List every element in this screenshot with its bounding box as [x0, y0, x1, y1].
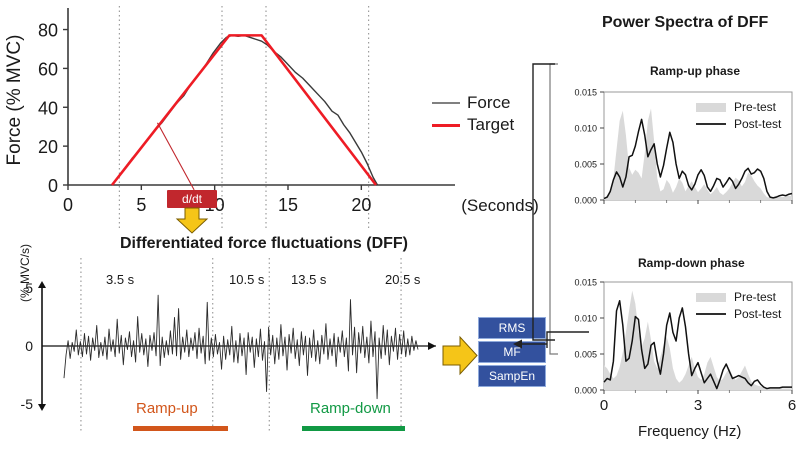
spectrum-ramp-down-plot: 0.0000.0050.0100.015036Pre-testPost-test — [552, 272, 800, 422]
svg-text:Post-test: Post-test — [734, 307, 782, 321]
svg-text:15: 15 — [278, 195, 298, 215]
svg-text:Post-test: Post-test — [734, 117, 782, 131]
svg-text:0.015: 0.015 — [574, 278, 597, 288]
spectrum-panel-ramp-down: 0.0000.0050.0100.015036Pre-testPost-test — [552, 272, 800, 422]
svg-text:80: 80 — [38, 21, 58, 41]
svg-text:0.015: 0.015 — [574, 88, 597, 98]
dff-time-marker-0: 3.5 s — [106, 272, 134, 287]
svg-text:0: 0 — [25, 338, 33, 354]
svg-text:0: 0 — [600, 397, 608, 414]
svg-text:-5: -5 — [21, 396, 34, 412]
phase-label-ramp-down: Ramp-down — [310, 400, 391, 417]
svg-text:40: 40 — [38, 98, 58, 118]
svg-text:0.005: 0.005 — [574, 350, 597, 360]
dff-time-marker-1: 10.5 s — [229, 272, 264, 287]
force-legend-swatch — [432, 102, 460, 104]
spectra-title: Power Spectra of DFF — [602, 14, 768, 32]
svg-text:0: 0 — [48, 176, 58, 196]
spectrum-subtitle-ramp-up: Ramp-up phase — [650, 64, 740, 78]
svg-text:6: 6 — [788, 397, 796, 414]
dff-time-marker-3: 20.5 s — [385, 272, 420, 287]
dff-ylabel: (% MVC/s) — [18, 228, 32, 318]
svg-text:Force (% MVC): Force (% MVC) — [4, 35, 25, 166]
svg-text:0: 0 — [63, 195, 73, 215]
target-legend-swatch — [432, 124, 460, 127]
spectrum-ramp-up-plot: 0.0000.0050.0100.015Pre-testPost-test — [552, 82, 800, 232]
svg-text:Pre-test: Pre-test — [734, 100, 777, 114]
svg-text:5: 5 — [136, 195, 146, 215]
phase-label-ramp-up: Ramp-up — [136, 400, 198, 417]
spectrum-panel-ramp-up: 0.0000.0050.0100.015Pre-testPost-test — [552, 82, 800, 232]
dff-title: Differentiated force fluctuations (DFF) — [120, 235, 408, 253]
phase-bar-ramp-up — [133, 426, 228, 431]
ddt-annotation: d/dt — [167, 190, 217, 234]
spectra-xlabel: Frequency (Hz) — [638, 423, 741, 440]
phase-bar-ramp-down — [302, 426, 405, 431]
svg-text:20: 20 — [351, 195, 371, 215]
svg-text:0.005: 0.005 — [574, 160, 597, 170]
svg-text:0.010: 0.010 — [574, 314, 597, 324]
svg-text:0.000: 0.000 — [574, 386, 597, 396]
dff-time-marker-2: 13.5 s — [291, 272, 326, 287]
spectrum-subtitle-ramp-down: Ramp-down phase — [638, 256, 745, 270]
svg-text:3: 3 — [694, 397, 702, 414]
ddt-box: d/dt — [167, 190, 217, 208]
dff-to-measures-arrow-icon — [443, 335, 479, 377]
svg-text:60: 60 — [38, 59, 58, 79]
force-legend-label: Force — [467, 93, 510, 113]
svg-text:Pre-test: Pre-test — [734, 290, 777, 304]
svg-text:0.000: 0.000 — [574, 196, 597, 206]
ddt-down-arrow-icon — [171, 208, 217, 234]
svg-text:0.010: 0.010 — [574, 124, 597, 134]
svg-text:20: 20 — [38, 137, 58, 157]
